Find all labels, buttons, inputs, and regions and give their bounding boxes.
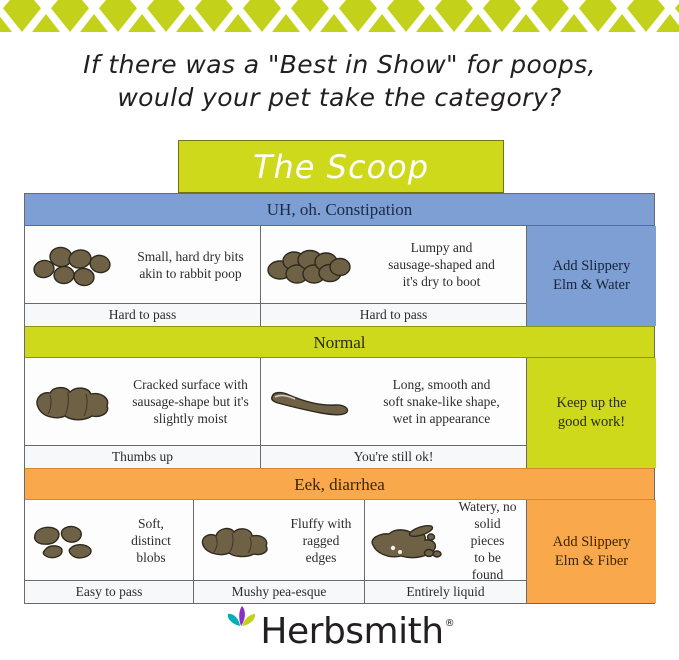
table-cell-constipation-1: Small, hard dry bits akin to rabbit poop (25, 226, 261, 303)
advice-panel-normal: Keep up the good work! (526, 358, 656, 468)
advice-line: Keep up the (556, 394, 626, 413)
desc-line: soft snake-like shape, (365, 393, 518, 410)
verdict-diarrhea-2: Mushy pea-esque (194, 580, 365, 603)
table-cell-normal-1: Cracked surface with sausage-shape but i… (25, 358, 261, 445)
verdict-constipation-1: Hard to pass (25, 303, 261, 326)
cracked-sausage-icon (25, 379, 121, 425)
verdict-constipation-2: Hard to pass (261, 303, 526, 326)
advice-line: Add Slippery (553, 257, 631, 276)
section-header-normal: Normal (25, 326, 654, 358)
desc-line: Watery, no (457, 498, 518, 515)
desc-line: Long, smooth and (365, 376, 518, 393)
advice-line: Add Slippery (553, 533, 631, 552)
table-cell-normal-2: Long, smooth and soft snake-like shape, … (261, 358, 526, 445)
desc-line: it's dry to boot (365, 273, 518, 290)
table-cell-desc: Small, hard dry bits akin to rabbit poop (121, 246, 260, 284)
desc-line: edges (286, 549, 356, 566)
section-body-diarrhea: Soft, distinct blobs (25, 500, 654, 603)
scoop-title-banner: The Scoop (178, 140, 504, 193)
chevron-zigzag-icon (0, 0, 679, 32)
section-body-normal: Cracked surface with sausage-shape but i… (25, 358, 654, 468)
section-body-constipation: Small, hard dry bits akin to rabbit poop (25, 226, 654, 326)
desc-line: sausage-shaped and (365, 256, 518, 273)
advice-panel-diarrhea: Add Slippery Elm & Fiber (526, 500, 656, 603)
section-header-constipation: UH, oh. Constipation (25, 194, 654, 226)
headline-line-1: If there was a "Best in Show" for poops, (83, 50, 596, 79)
desc-line: to be found (457, 549, 518, 583)
advice-panel-constipation: Add Slippery Elm & Water (526, 226, 656, 326)
scoop-title-text: The Scoop (179, 141, 503, 193)
table-cell-diarrhea-3: Watery, no solid pieces to be found (365, 500, 526, 580)
stool-chart-table: UH, oh. Constipation (24, 193, 655, 604)
table-cell-desc: Watery, no solid pieces to be found (449, 496, 526, 585)
verdict-normal-1: Thumbs up (25, 445, 261, 468)
desc-line: Cracked surface with (129, 376, 252, 393)
table-cell-diarrhea-2: Fluffy with ragged edges (194, 500, 365, 580)
advice-line: Elm & Water (553, 276, 631, 295)
fluffy-ragged-icon (194, 515, 278, 565)
advice-line: Elm & Fiber (553, 552, 631, 571)
desc-line: slightly moist (129, 410, 252, 427)
verdict-normal-2: You're still ok! (261, 445, 526, 468)
chevron-pattern-band (0, 0, 679, 32)
desc-line: Lumpy and (365, 239, 518, 256)
desc-line: solid pieces (457, 515, 518, 549)
table-cell-desc: Soft, distinct blobs (109, 513, 193, 568)
page-headline: If there was a "Best in Show" for poops,… (0, 48, 679, 114)
advice-line: good work! (556, 413, 626, 432)
section-header-diarrhea: Eek, diarrhea (25, 468, 654, 500)
table-cell-desc: Cracked surface with sausage-shape but i… (121, 374, 260, 429)
table-cell-diarrhea-1: Soft, distinct blobs (25, 500, 194, 580)
watery-liquid-icon (365, 515, 449, 565)
smooth-snake-icon (261, 379, 357, 425)
herbsmith-lotus-icon (224, 604, 258, 650)
brand-name: Herbsmith (260, 612, 443, 652)
headline-line-2: would your pet take the category? (0, 81, 679, 114)
table-cell-desc: Long, smooth and soft snake-like shape, … (357, 374, 526, 429)
table-cell-desc: Lumpy and sausage-shaped and it's dry to… (357, 237, 526, 292)
table-cell-constipation-2: Lumpy and sausage-shaped and it's dry to… (261, 226, 526, 303)
desc-line: distinct (117, 532, 185, 549)
desc-line: Small, hard dry bits (129, 248, 252, 265)
table-cell-desc: Fluffy with ragged edges (278, 513, 364, 568)
verdict-diarrhea-1: Easy to pass (25, 580, 194, 603)
desc-line: ragged (286, 532, 356, 549)
soft-blobs-icon (25, 515, 109, 565)
lumpy-sausage-icon (261, 240, 357, 290)
desc-line: wet in appearance (365, 410, 518, 427)
desc-line: Fluffy with (286, 515, 356, 532)
desc-line: sausage-shape but it's (129, 393, 252, 410)
brand-logo: Herbsmith ® (0, 604, 679, 652)
desc-line: Soft, (117, 515, 185, 532)
desc-line: blobs (117, 549, 185, 566)
registered-mark: ® (445, 618, 455, 629)
small-hard-pellets-icon (25, 240, 121, 290)
desc-line: akin to rabbit poop (129, 265, 252, 282)
